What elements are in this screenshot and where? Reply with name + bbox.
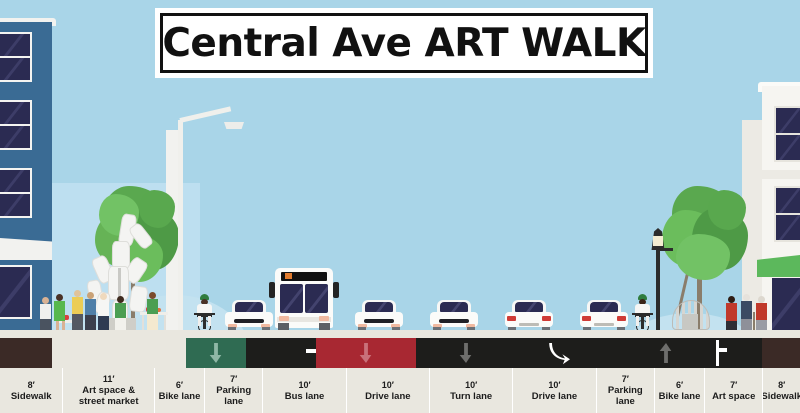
cyclist-leg xyxy=(198,316,201,326)
bus-windshield-left xyxy=(280,284,303,313)
lane-width: 8′ xyxy=(28,380,35,391)
car-rear-view xyxy=(505,300,553,332)
arrow-up-icon xyxy=(660,343,673,363)
left-building-awning xyxy=(0,238,52,260)
pedestrian xyxy=(115,296,126,331)
bus-headlight xyxy=(279,316,289,321)
arrow-down-icon xyxy=(210,343,223,363)
lane-name-line1: Art space & xyxy=(81,385,136,396)
lane-label-drive-lane-right: 10′ Drive lane xyxy=(513,368,596,413)
lane-width: 8′ xyxy=(778,380,785,391)
painted-drive-lane-right xyxy=(616,338,716,368)
dimension-label-bar: 8′ Sidewalk 11′ Art space & street marke… xyxy=(0,368,800,413)
lane-name: Bike lane xyxy=(158,391,202,402)
cyclist-leg xyxy=(646,316,649,326)
lane-label-drive-lane-left: 10′ Drive lane xyxy=(347,368,430,413)
window xyxy=(0,32,32,82)
painted-turn-lane xyxy=(516,338,616,368)
lamp-post-arm xyxy=(659,248,673,251)
lane-width: 10′ xyxy=(382,380,394,391)
lane-label-art-space-market: 11′ Art space & street market xyxy=(63,368,155,413)
lane-name: Parking lane xyxy=(597,385,654,407)
window xyxy=(774,186,800,242)
car-front-view xyxy=(430,300,478,332)
market-table-leg xyxy=(142,315,144,331)
pedestrian xyxy=(741,294,752,335)
lane-name: Bus lane xyxy=(284,391,326,402)
lane-name: Turn lane xyxy=(449,391,493,402)
lane-width: 7′ xyxy=(622,374,629,385)
parking-tick-marking xyxy=(716,340,719,366)
arrow-down-icon xyxy=(360,343,373,363)
pedestrian xyxy=(72,290,83,331)
cyclist xyxy=(630,294,654,334)
right-building-band xyxy=(760,170,800,179)
lane-name: Drive lane xyxy=(364,391,411,402)
lane-name: Art space xyxy=(711,391,756,402)
bus-wheel xyxy=(278,323,289,330)
lane-label-parking-lane-left: 7′ Parking lane xyxy=(205,368,263,413)
lane-label-turn-lane: 10′ Turn lane xyxy=(430,368,513,413)
lane-label-bike-lane-right: 6′ Bike lane xyxy=(655,368,705,413)
pedestrian xyxy=(85,292,96,331)
arrow-turn-right-icon xyxy=(548,341,572,365)
lane-name: Sidewalk xyxy=(763,391,800,402)
painted-parking-lane-left xyxy=(246,338,316,368)
lane-width: 7′ xyxy=(230,374,237,385)
right-building-footing xyxy=(762,338,800,368)
lane-width: 11′ xyxy=(103,374,115,385)
cyclist-leg xyxy=(208,316,211,326)
lane-label-bike-lane-left: 6′ Bike lane xyxy=(155,368,205,413)
storefront-window xyxy=(772,278,800,336)
pedestrian xyxy=(147,292,158,332)
left-building-footing xyxy=(0,338,52,368)
lane-width: 10′ xyxy=(548,380,560,391)
market-table-leg xyxy=(164,315,166,331)
bus-destination-text xyxy=(285,273,292,279)
cyclist-leg xyxy=(636,316,639,326)
lane-label-parking-lane-right: 7′ Parking lane xyxy=(597,368,655,413)
lamp-post-pole xyxy=(656,246,660,332)
window xyxy=(0,265,32,319)
painted-drive-lane-left xyxy=(416,338,516,368)
lane-name: Parking lane xyxy=(205,385,262,407)
painted-bike-lane-left xyxy=(186,338,246,368)
bus-mirror-right xyxy=(333,282,339,298)
pedestrian xyxy=(98,293,109,332)
page-title: Central Ave ART WALK xyxy=(162,21,645,66)
lane-name-line2: street market xyxy=(78,396,140,407)
car-front-view xyxy=(225,300,273,332)
lane-name: Bike lane xyxy=(658,391,702,402)
lane-width: 7′ xyxy=(730,380,737,391)
car-rear-view xyxy=(580,300,628,332)
lane-label-sidewalk-right: 8′ Sidewalk xyxy=(763,368,800,413)
title-banner: Central Ave ART WALK xyxy=(155,8,653,78)
lane-width: 10′ xyxy=(465,380,477,391)
bench-seat xyxy=(682,314,698,330)
bus-wheel xyxy=(319,323,330,330)
lamp-post-glass xyxy=(653,236,663,246)
lane-label-sidewalk-left: 8′ Sidewalk xyxy=(0,368,63,413)
window xyxy=(0,100,32,150)
painted-bus-lane xyxy=(316,338,416,368)
tree-foliage xyxy=(662,184,748,284)
car-front-view xyxy=(355,300,403,332)
walking-cane xyxy=(753,312,755,331)
window xyxy=(774,106,800,162)
bus-windshield-right xyxy=(305,284,328,313)
street-section-illustration: 8′ Sidewalk 11′ Art space & street marke… xyxy=(0,0,800,413)
pedestrian xyxy=(54,294,65,331)
streetlight-lamp xyxy=(224,122,244,129)
lane-width: 6′ xyxy=(176,380,183,391)
cyclist xyxy=(192,294,216,334)
window xyxy=(0,168,32,218)
lane-label-bus-lane: 10′ Bus lane xyxy=(263,368,346,413)
bus-headlight xyxy=(319,316,329,321)
title-banner-frame: Central Ave ART WALK xyxy=(160,13,648,73)
lane-name: Drive lane xyxy=(531,391,578,402)
streetlight-pole xyxy=(178,120,183,332)
lane-width: 6′ xyxy=(676,380,683,391)
lane-width: 10′ xyxy=(298,380,310,391)
lane-name: Sidewalk xyxy=(10,391,53,402)
bus xyxy=(273,268,335,332)
lane-label-art-space-right: 7′ Art space xyxy=(705,368,763,413)
parking-tick-marking xyxy=(306,349,316,353)
arrow-down-icon xyxy=(460,343,473,363)
